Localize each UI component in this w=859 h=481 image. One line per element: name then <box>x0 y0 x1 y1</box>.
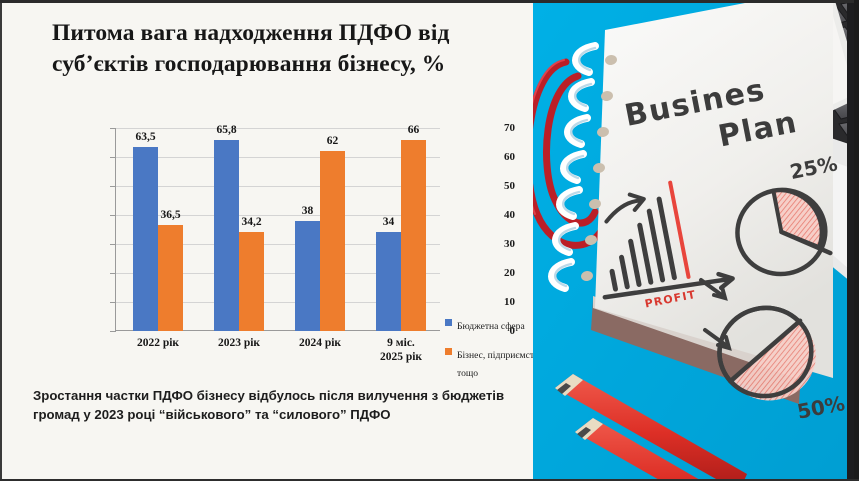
y-axis-tick <box>110 331 115 332</box>
bar-value-label: 38 <box>302 205 314 217</box>
y-axis-tick-label: 30 <box>493 238 515 250</box>
y-axis-tick-label: 60 <box>493 151 515 163</box>
slide-top-border <box>0 0 859 3</box>
grouped-bar-chart: 0 10 20 30 40 50 60 70 <box>45 118 515 368</box>
y-axis-tick-label: 10 <box>493 296 515 308</box>
bar-budget: 65,8 <box>214 140 239 331</box>
bar-value-label: 62 <box>327 135 339 147</box>
bar-group: 65,8 34,2 2023 рік <box>214 128 264 331</box>
bar-business: 34,2 <box>239 232 264 331</box>
bar-value-label: 63,5 <box>135 131 155 143</box>
y-axis-tick-label: 20 <box>493 267 515 279</box>
slide-right-border <box>854 0 859 481</box>
legend-swatch-orange-icon <box>445 348 452 355</box>
y-axis-tick-label: 70 <box>493 122 515 134</box>
bar-group: 34 66 9 міс. 2025 рік <box>376 128 426 331</box>
bar-business: 66 <box>401 140 426 331</box>
caption-text: Зростання частки ПДФО бізнесу відбулось … <box>33 386 513 424</box>
legend-label: Бюджетна сфера <box>457 321 525 332</box>
bar-value-label: 36,5 <box>160 209 180 221</box>
y-axis-tick <box>110 302 115 303</box>
slide-root: Питома вага надходження ПДФО від суб’єкт… <box>0 0 859 481</box>
page-title: Питома вага надходження ПДФО від суб’єкт… <box>52 18 507 81</box>
x-axis-category-label: 9 міс. 2025 рік <box>346 336 456 365</box>
chart-plot-area: 63,5 36,5 2022 рік 65,8 34,2 <box>115 128 440 331</box>
y-axis-tick-label: 50 <box>493 180 515 192</box>
y-axis-tick <box>110 273 115 274</box>
y-axis-tick <box>110 157 115 158</box>
y-axis-line <box>115 128 116 332</box>
x-axis-category-line1: 9 міс. <box>346 336 456 350</box>
y-axis-tick <box>110 186 115 187</box>
x-axis-category-line2: 2025 рік <box>346 350 456 364</box>
legend-label: Бізнес, підприємства, тощо <box>457 350 545 379</box>
legend-swatch-blue-icon <box>445 319 452 326</box>
bar-business: 36,5 <box>158 225 183 331</box>
y-axis-tick-label: 40 <box>493 209 515 221</box>
bar-value-label: 66 <box>408 124 420 136</box>
bar-business: 62 <box>320 151 345 331</box>
business-plan-notebook-photo: Busines Plan PROFIT <box>533 0 859 481</box>
bar-value-label: 34 <box>383 216 395 228</box>
slide-left-border <box>0 0 2 481</box>
bar-budget: 63,5 <box>133 147 158 331</box>
bar-value-label: 65,8 <box>216 124 236 136</box>
photo-illustration: Busines Plan PROFIT <box>533 0 859 481</box>
bar-group: 38 62 2024 рік <box>295 128 345 331</box>
y-axis-tick <box>110 128 115 129</box>
bar-budget: 38 <box>295 221 320 331</box>
slide-left-panel: Питома вага надходження ПДФО від суб’єкт… <box>0 0 533 481</box>
y-axis-tick <box>110 215 115 216</box>
y-axis-tick <box>110 244 115 245</box>
bar-budget: 34 <box>376 232 401 331</box>
bar-group: 63,5 36,5 2022 рік <box>133 128 183 331</box>
bar-value-label: 34,2 <box>241 216 261 228</box>
